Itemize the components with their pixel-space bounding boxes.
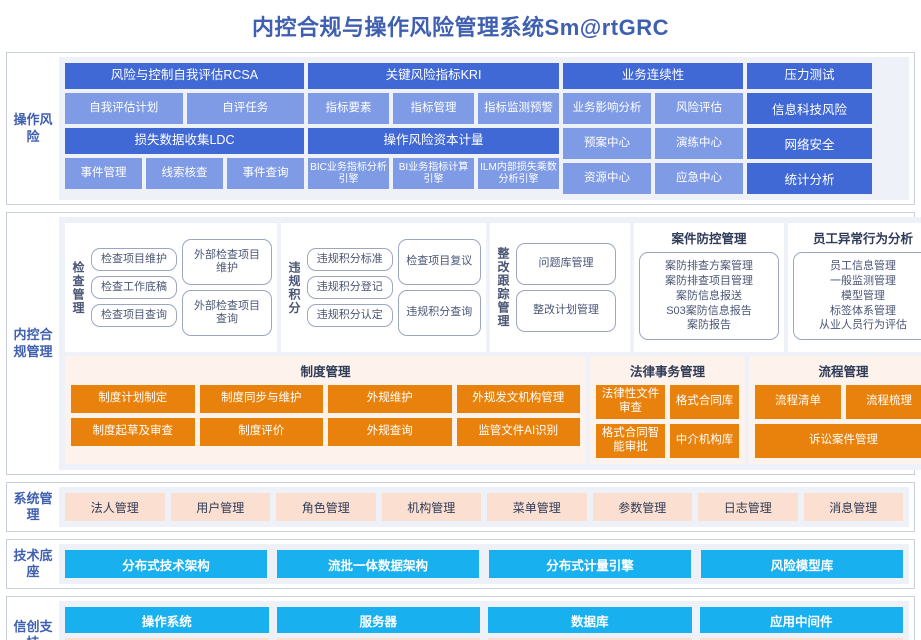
or-item-standard-contract-library[interactable]: 格式合同库: [670, 385, 739, 419]
band-internal-control: 内控合规管理 检查管理 检查项目维护 检查工作底稿 检查项目查询 外部检查项目维…: [6, 212, 915, 475]
or-item-intermediary-org-library[interactable]: 中介机构库: [670, 424, 739, 458]
ic-item-external-inspection-maintenance[interactable]: 外部检查项目维护: [182, 239, 272, 285]
op-subrow-bc-3: 资源中心 应急中心: [563, 163, 743, 194]
ic-item-violation-point-query[interactable]: 违规积分查询: [398, 290, 482, 336]
ic-item-case-report: 案防报告: [687, 318, 731, 333]
band-label-system-management: 系统管理: [7, 483, 59, 531]
operation-risk-body: 风险与控制自我评估RCSA 自我评估计划 自评任务 损失数据收集LDC 事件管理…: [59, 57, 909, 200]
xc-head-operating-system[interactable]: 操作系统: [65, 607, 269, 633]
or-card-policy-management: 制度管理 制度计划制定 制度同步与维护 外规维护 外规发文机构管理 制度起草及审…: [65, 356, 586, 464]
or-card-process-management: 流程管理 流程清单 流程梳理 诉讼案件管理: [749, 356, 921, 464]
xc-column-database: 数据库 达梦、人大金仓、OcenBase...: [488, 607, 692, 640]
op-subrow-bc-2: 预案中心 演练中心: [563, 128, 743, 159]
ic-item-tag-system-management: 标签体系管理: [830, 304, 896, 319]
ic-item-employee-info-management: 员工信息管理: [830, 259, 896, 274]
op-item-clue-check[interactable]: 线索核查: [146, 158, 223, 189]
xinchuang-body: 操作系统 麒麟、统信、中科方德... 服务器 龙芯、兆芯、海思... 数据库 达…: [59, 601, 909, 640]
band-operation-risk: 操作风险 风险与控制自我评估RCSA 自我评估计划 自评任务 损失数据收集LDC…: [6, 52, 915, 205]
op-item-indicator-element[interactable]: 指标要素: [308, 93, 389, 124]
or-item-legal-doc-review[interactable]: 法律性文件审查: [596, 385, 665, 419]
sys-item-org-management[interactable]: 机构管理: [382, 493, 482, 521]
ic-card-rectification-tracking: 整改跟踪管理 问题库管理 整改计划管理: [490, 223, 630, 352]
ic-pillcol-inspection-b: 外部检查项目维护 外部检查项目查询: [182, 239, 272, 336]
op-item-business-impact-analysis[interactable]: 业务影响分析: [563, 93, 651, 124]
tech-item-distributed-measurement-engine[interactable]: 分布式计量引擎: [489, 550, 691, 578]
ic-vlabel-violation: 违规积分: [286, 228, 303, 347]
or-item-litigation-case-management[interactable]: 诉讼案件管理: [755, 424, 921, 458]
ic-item-s03-case-info-report: S03案防信息报告: [666, 304, 752, 319]
ic-card-case-prevention: 案件防控管理 案防排查方案管理 案防排查项目管理 案防信息报送 S03案防信息报…: [634, 223, 784, 352]
or-item-policy-drafting-review[interactable]: 制度起草及审查: [71, 418, 195, 446]
op-head-stress-test[interactable]: 压力测试: [747, 63, 872, 89]
tech-base-row: 分布式技术架构 流批一体数据架构 分布式计量引擎 风险模型库: [65, 550, 903, 578]
ic-itemlist-employee-behavior[interactable]: 员工信息管理 一般监测管理 模型管理 标签体系管理 从业人员行为评估: [793, 252, 921, 340]
ic-item-case-inspection-plan: 案防排查方案管理: [665, 259, 753, 274]
tech-item-distributed-architecture[interactable]: 分布式技术架构: [65, 550, 267, 578]
operation-risk-grid: 风险与控制自我评估RCSA 自我评估计划 自评任务 损失数据收集LDC 事件管理…: [65, 63, 903, 194]
or-item-external-rule-query[interactable]: 外规查询: [328, 418, 452, 446]
internal-control-bottom-row: 制度管理 制度计划制定 制度同步与维护 外规维护 外规发文机构管理 制度起草及审…: [65, 356, 921, 464]
op-item-self-assessment-task[interactable]: 自评任务: [187, 93, 305, 124]
or-title-process-management: 流程管理: [755, 361, 921, 380]
sys-item-log-management[interactable]: 日志管理: [698, 493, 798, 521]
ic-item-violation-point-registration[interactable]: 违规积分登记: [307, 276, 393, 299]
band-label-xinchuang: 信创支持: [7, 597, 59, 640]
op-item-indicator-management[interactable]: 指标管理: [393, 93, 474, 124]
ic-item-inspection-project-review[interactable]: 检查项目复议: [398, 239, 482, 285]
page-root: 内控合规与操作风险管理系统Sm@rtGRC 操作风险 风险与控制自我评估RCSA…: [0, 0, 921, 640]
op-item-indicator-monitor-alert[interactable]: 指标监测预警: [478, 93, 559, 124]
page-header: 内控合规与操作风险管理系统Sm@rtGRC: [0, 0, 921, 52]
op-head-business-continuity[interactable]: 业务连续性: [563, 63, 743, 89]
ic-pillcol-violation-a: 违规积分标准 违规积分登记 违规积分认定: [307, 248, 393, 328]
op-column-business-continuity: 业务连续性 业务影响分析 风险评估 预案中心 演练中心 资源中心 应急中心: [563, 63, 743, 194]
band-system-management: 系统管理 法人管理 用户管理 角色管理 机构管理 菜单管理 参数管理 日志管理 …: [6, 482, 915, 532]
or-item-process-list[interactable]: 流程清单: [755, 385, 841, 419]
ic-itemlist-case-prevention[interactable]: 案防排查方案管理 案防排查项目管理 案防信息报送 S03案防信息报告 案防报告: [639, 252, 779, 340]
band-xinchuang-support: 信创支持 操作系统 麒麟、统信、中科方德... 服务器 龙芯、兆芯、海思... …: [6, 596, 915, 640]
ic-title-case-prevention: 案件防控管理: [671, 228, 746, 247]
ic-item-violation-point-confirmation[interactable]: 违规积分认定: [307, 304, 393, 327]
op-item-drill-center[interactable]: 演练中心: [655, 128, 743, 159]
sys-item-message-management[interactable]: 消息管理: [804, 493, 904, 521]
ic-item-issue-library-management[interactable]: 问题库管理: [516, 243, 616, 285]
internal-control-top-row: 检查管理 检查项目维护 检查工作底稿 检查项目查询 外部检查项目维护 外部检查项…: [65, 223, 921, 352]
sys-item-legal-entity-management[interactable]: 法人管理: [65, 493, 165, 521]
xinchuang-row: 操作系统 麒麟、统信、中科方德... 服务器 龙芯、兆芯、海思... 数据库 达…: [65, 607, 903, 640]
op-item-ilm-engine[interactable]: ILM内部损失乘数分析引擎: [478, 158, 559, 189]
op-column-stress-test: 压力测试 信息科技风险 网络安全 统计分析: [747, 63, 872, 194]
xc-column-middleware: 应用中间件 东方通、宝兰德、中创...: [700, 607, 904, 640]
ic-item-inspection-project-query[interactable]: 检查项目查询: [91, 304, 177, 327]
ic-vlabel-rectification: 整改跟踪管理: [495, 228, 512, 347]
sys-item-menu-management[interactable]: 菜单管理: [487, 493, 587, 521]
band-label-operation-risk: 操作风险: [7, 53, 59, 204]
ic-item-violation-point-standard[interactable]: 违规积分标准: [307, 248, 393, 271]
or-grid-legal: 法律性文件审查 格式合同库 格式合同智能审批 中介机构库: [596, 385, 739, 458]
ic-item-external-inspection-query[interactable]: 外部检查项目查询: [182, 290, 272, 336]
internal-control-body: 检查管理 检查项目维护 检查工作底稿 检查项目查询 外部检查项目维护 外部检查项…: [59, 217, 921, 470]
op-column-kri: 关键风险指标KRI 指标要素 指标管理 指标监测预警 操作风险资本计量 BIC业…: [308, 63, 559, 194]
op-subrow-capital: BIC业务指标分析引擎 BI业务指标计算引擎 ILM内部损失乘数分析引擎: [308, 158, 559, 189]
xc-column-os: 操作系统 麒麟、统信、中科方德...: [65, 607, 269, 640]
ic-pillcol-violation-b: 检查项目复议 违规积分查询: [398, 239, 482, 336]
or-item-standard-contract-smart-approval[interactable]: 格式合同智能审批: [596, 424, 665, 458]
ic-card-employee-abnormal-behavior: 员工异常行为分析 员工信息管理 一般监测管理 模型管理 标签体系管理 从业人员行…: [788, 223, 921, 352]
or-title-policy-management: 制度管理: [71, 361, 580, 380]
xc-column-server: 服务器 龙芯、兆芯、海思...: [277, 607, 481, 640]
ic-pillcol-inspection-a: 检查项目维护 检查工作底稿 检查项目查询: [91, 248, 177, 328]
ic-item-case-info-submit: 案防信息报送: [676, 289, 742, 304]
ic-vlabel-inspection: 检查管理: [70, 228, 87, 347]
tech-base-body: 分布式技术架构 流批一体数据架构 分布式计量引擎 风险模型库: [59, 544, 909, 584]
ic-item-general-monitor-management: 一般监测管理: [830, 274, 896, 289]
xc-head-server[interactable]: 服务器: [277, 607, 481, 633]
op-item-it-risk[interactable]: 信息科技风险: [747, 93, 872, 124]
op-item-bic-engine[interactable]: BIC业务指标分析引擎: [308, 158, 389, 189]
band-tech-base: 技术底座 分布式技术架构 流批一体数据架构 分布式计量引擎 风险模型库: [6, 539, 915, 589]
op-subrow-kri: 指标要素 指标管理 指标监测预警: [308, 93, 559, 124]
band-label-tech-base: 技术底座: [7, 540, 59, 588]
op-item-emergency-center[interactable]: 应急中心: [655, 163, 743, 194]
sys-item-user-management[interactable]: 用户管理: [171, 493, 271, 521]
op-item-bi-engine[interactable]: BI业务指标计算引擎: [393, 158, 474, 189]
ic-card-inspection-management: 检查管理 检查项目维护 检查工作底稿 检查项目查询 外部检查项目维护 外部检查项…: [65, 223, 277, 352]
op-item-risk-assessment[interactable]: 风险评估: [655, 93, 743, 124]
op-head-kri[interactable]: 关键风险指标KRI: [308, 63, 559, 89]
ic-card-violation-points: 违规积分 违规积分标准 违规积分登记 违规积分认定 检查项目复议 违规积分查询: [281, 223, 486, 352]
or-item-policy-plan[interactable]: 制度计划制定: [71, 385, 195, 413]
or-item-process-combing[interactable]: 流程梳理: [846, 385, 921, 419]
tech-item-stream-batch-data-architecture[interactable]: 流批一体数据架构: [277, 550, 479, 578]
xc-head-database[interactable]: 数据库: [488, 607, 692, 633]
ic-item-practitioner-behavior-assessment: 从业人员行为评估: [819, 318, 907, 333]
sys-item-role-management[interactable]: 角色管理: [276, 493, 376, 521]
or-item-regulatory-doc-ai-recognition[interactable]: 监管文件AI识别: [457, 418, 581, 446]
or-item-policy-evaluation[interactable]: 制度评价: [200, 418, 324, 446]
xc-head-middleware[interactable]: 应用中间件: [700, 607, 904, 633]
op-column-rcsa: 风险与控制自我评估RCSA 自我评估计划 自评任务 损失数据收集LDC 事件管理…: [65, 63, 304, 194]
op-item-statistical-analysis[interactable]: 统计分析: [747, 163, 872, 194]
op-head-capital-measurement[interactable]: 操作风险资本计量: [308, 128, 559, 154]
op-item-plan-center[interactable]: 预案中心: [563, 128, 651, 159]
op-item-self-assessment-plan[interactable]: 自我评估计划: [65, 93, 183, 124]
tech-item-risk-model-library[interactable]: 风险模型库: [701, 550, 903, 578]
or-title-legal-affairs: 法律事务管理: [596, 361, 739, 380]
or-item-external-rule-maintenance[interactable]: 外规维护: [328, 385, 452, 413]
ic-pillcol-rectification: 问题库管理 整改计划管理: [516, 243, 616, 332]
or-item-policy-sync-maintenance[interactable]: 制度同步与维护: [200, 385, 324, 413]
op-subrow-ldc: 事件管理 线索核查 事件查询: [65, 158, 304, 189]
ic-item-inspection-project-maintenance[interactable]: 检查项目维护: [91, 248, 177, 271]
op-item-event-query[interactable]: 事件查询: [227, 158, 304, 189]
ic-item-case-inspection-project: 案防排查项目管理: [665, 274, 753, 289]
band-label-internal-control: 内控合规管理: [7, 213, 59, 474]
op-head-ldc[interactable]: 损失数据收集LDC: [65, 128, 304, 154]
op-subrow-rcsa: 自我评估计划 自评任务: [65, 93, 304, 124]
or-card-legal-affairs: 法律事务管理 法律性文件审查 格式合同库 格式合同智能审批 中介机构库: [590, 356, 745, 464]
sys-item-parameter-management[interactable]: 参数管理: [593, 493, 693, 521]
system-management-row: 法人管理 用户管理 角色管理 机构管理 菜单管理 参数管理 日志管理 消息管理: [65, 493, 903, 521]
ic-item-model-management: 模型管理: [841, 289, 885, 304]
or-grid-process: 流程清单 流程梳理 诉讼案件管理: [755, 385, 921, 458]
op-subrow-bc-1: 业务影响分析 风险评估: [563, 93, 743, 124]
page-title: 内控合规与操作风险管理系统Sm@rtGRC: [252, 10, 669, 42]
op-item-resource-center[interactable]: 资源中心: [563, 163, 651, 194]
or-item-external-rule-issuing-org[interactable]: 外规发文机构管理: [457, 385, 581, 413]
op-item-network-security[interactable]: 网络安全: [747, 128, 872, 159]
or-grid-policy: 制度计划制定 制度同步与维护 外规维护 外规发文机构管理 制度起草及审查 制度评…: [71, 385, 580, 446]
op-item-event-management[interactable]: 事件管理: [65, 158, 142, 189]
system-management-body: 法人管理 用户管理 角色管理 机构管理 菜单管理 参数管理 日志管理 消息管理: [59, 487, 909, 527]
op-head-rcsa[interactable]: 风险与控制自我评估RCSA: [65, 63, 304, 89]
ic-item-inspection-workpaper[interactable]: 检查工作底稿: [91, 276, 177, 299]
ic-item-rectification-plan-management[interactable]: 整改计划管理: [516, 290, 616, 332]
ic-title-employee-behavior: 员工异常行为分析: [813, 228, 913, 247]
